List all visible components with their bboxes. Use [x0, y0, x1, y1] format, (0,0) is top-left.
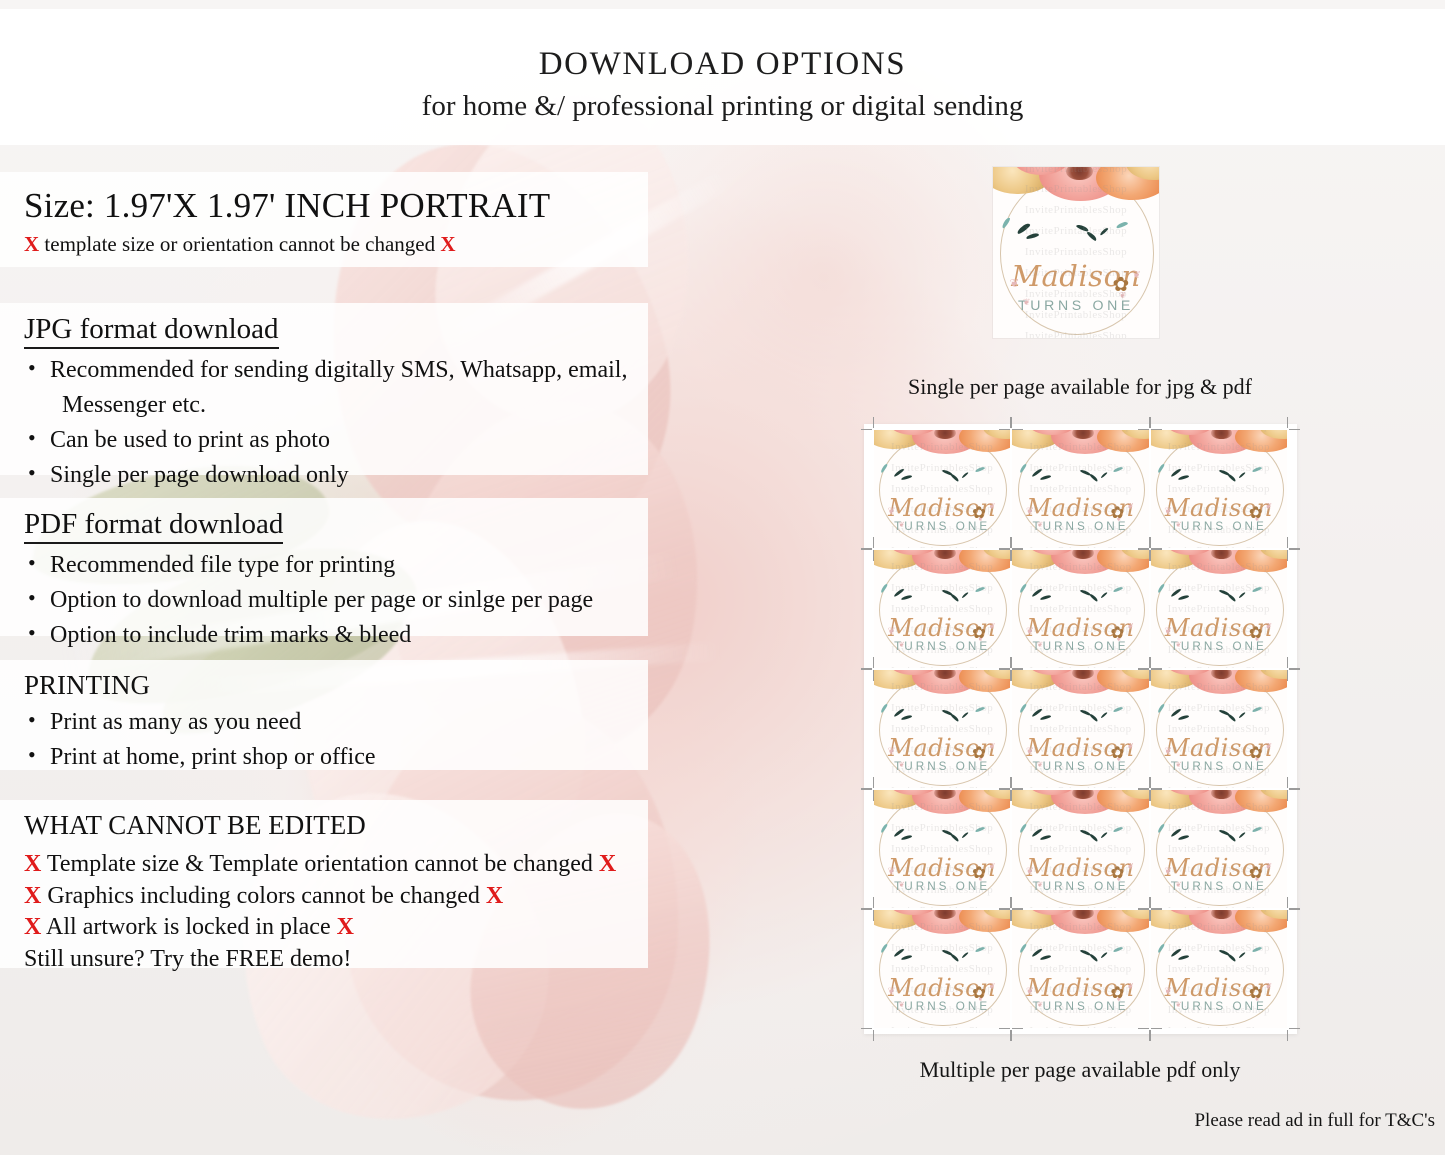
tag-grid-cell[interactable]: MadisonTURNS ONE❦❦❦❦✿InvitePrintablesSho… — [1151, 430, 1287, 548]
leaf-sprig — [1019, 584, 1027, 593]
leaf-sprig — [1157, 824, 1165, 833]
fairy-icon: ✿ — [1110, 623, 1124, 643]
trim-mark — [1289, 1028, 1300, 1029]
trim-mark — [861, 669, 872, 670]
fairy-icon: ✿ — [1110, 503, 1124, 523]
leaf-sprig — [1116, 221, 1128, 229]
trim-mark — [873, 417, 874, 428]
multi-preview-caption: Multiple per page available pdf only — [860, 1057, 1300, 1083]
floral-header — [1151, 430, 1287, 496]
trim-mark — [1287, 790, 1288, 801]
x-marker-icon: X — [24, 232, 39, 256]
trim-mark — [1150, 777, 1151, 788]
tag-subtitle: TURNS ONE — [1151, 760, 1287, 773]
tag-subtitle: TURNS ONE — [874, 520, 1010, 533]
leaf-sprig — [1100, 831, 1108, 838]
leaf-sprig — [901, 715, 912, 720]
printing-panel: PRINTING Print as many as you need Print… — [0, 660, 648, 770]
cannot-edit-line: X Template size & Template orientation c… — [24, 849, 648, 881]
floral-header — [1151, 550, 1287, 616]
butterfly-icon: ❦ — [1265, 621, 1272, 631]
butterfly-icon: ❦ — [989, 741, 996, 751]
butterfly-icon: ❦ — [1164, 626, 1172, 637]
list-item: Print as many as you need — [24, 707, 648, 738]
leaf-sprig — [1113, 467, 1123, 473]
fairy-icon: ✿ — [972, 623, 986, 643]
tag-artwork: MadisonTURNS ONE❦❦❦❦✿InvitePrintablesSho… — [1012, 550, 1148, 668]
tag-subtitle: TURNS ONE — [874, 640, 1010, 653]
butterfly-icon: ❦ — [1164, 506, 1172, 517]
butterfly-icon: ❦ — [1026, 506, 1034, 517]
trim-mark — [1138, 429, 1149, 430]
butterfly-icon: ❦ — [899, 520, 905, 529]
butterfly-icon: ❦ — [1127, 981, 1134, 991]
tag-grid-cell[interactable]: MadisonTURNS ONE❦❦❦❦✿InvitePrintablesSho… — [1012, 670, 1148, 788]
leaf-sprig — [1113, 587, 1123, 593]
fairy-icon: ✿ — [1249, 863, 1263, 883]
trim-mark — [1151, 1028, 1162, 1029]
tag-grid: MadisonTURNS ONE❦❦❦❦✿InvitePrintablesSho… — [874, 430, 1287, 1028]
butterfly-icon: ❦ — [1175, 880, 1181, 889]
leaf-sprig — [1019, 944, 1027, 953]
tag-subtitle: TURNS ONE — [1012, 640, 1148, 653]
cannot-edit-line-text: All artwork is locked in place — [46, 914, 331, 940]
butterfly-icon: ❦ — [888, 626, 896, 637]
butterfly-icon: ❦ — [1026, 746, 1034, 757]
trim-mark — [873, 777, 874, 788]
leaf-sprig — [1001, 217, 1011, 229]
trim-mark — [1011, 657, 1012, 668]
butterfly-icon: ❦ — [989, 621, 996, 631]
list-item: Can be used to print as photo — [24, 425, 648, 456]
leaf-sprig — [1251, 467, 1261, 473]
jpg-title-wrap: JPG format download — [24, 313, 648, 349]
size-note: X template size or orientation cannot be… — [24, 232, 648, 257]
pdf-title-wrap: PDF format download — [24, 508, 648, 544]
leaf-sprig — [975, 947, 985, 953]
leaf-sprig — [1227, 593, 1236, 602]
butterfly-icon: ❦ — [1127, 501, 1134, 511]
leaf-sprig — [1039, 475, 1050, 480]
tag-subtitle: TURNS ONE — [993, 297, 1159, 313]
trim-mark — [873, 657, 874, 668]
tag-grid-cell[interactable]: MadisonTURNS ONE❦❦❦❦✿InvitePrintablesSho… — [1151, 910, 1287, 1028]
fairy-icon: ✿ — [1249, 623, 1263, 643]
leaf-sprig — [1039, 835, 1050, 840]
x-marker-icon: X — [486, 883, 503, 909]
pdf-bullet-list: Recommended file type for printing Optio… — [24, 550, 648, 650]
leaf-sprig — [1089, 473, 1098, 482]
list-item: Recommended for sending digitally SMS, W… — [24, 355, 648, 386]
trim-mark — [1138, 549, 1149, 550]
leaf-sprig — [1227, 953, 1236, 962]
leaf-sprig — [1113, 827, 1123, 833]
tag-grid-cell[interactable]: MadisonTURNS ONE❦❦❦❦✿InvitePrintablesSho… — [874, 790, 1010, 908]
trim-mark — [1012, 1028, 1023, 1029]
butterfly-icon: ❦ — [989, 981, 996, 991]
tag-artwork: MadisonTURNS ONE❦❦❦❦✿InvitePrintablesSho… — [874, 910, 1010, 1028]
butterfly-icon: ❦ — [1037, 760, 1043, 769]
leaf-sprig — [1178, 595, 1189, 600]
butterfly-icon: ❦ — [899, 640, 905, 649]
x-marker-icon: X — [24, 914, 41, 940]
fairy-icon: ✿ — [1110, 983, 1124, 1003]
trim-mark — [1287, 777, 1288, 788]
trim-mark — [1289, 789, 1300, 790]
cannot-edit-line: X All artwork is locked in place X — [24, 912, 648, 944]
trim-mark — [1287, 897, 1288, 908]
floral-header — [1151, 790, 1287, 856]
trim-mark — [1289, 909, 1300, 910]
list-item: Option to include trim marks & bleed — [24, 620, 648, 651]
pdf-title: PDF format download — [24, 508, 283, 544]
trim-mark — [861, 789, 872, 790]
leaf-sprig — [1100, 591, 1108, 598]
tag-subtitle: TURNS ONE — [1012, 520, 1148, 533]
tag-artwork: MadisonTURNS ONE❦❦❦❦✿InvitePrintablesSho… — [1151, 910, 1287, 1028]
tag-artwork: MadisonTURNS ONE❦❦❦❦✿InvitePrintablesSho… — [1012, 910, 1148, 1028]
pdf-panel: PDF format download Recommended file typ… — [0, 498, 648, 636]
x-marker-icon: X — [599, 851, 616, 877]
jpg-title: JPG format download — [24, 313, 279, 349]
tag-subtitle: TURNS ONE — [1012, 760, 1148, 773]
leaf-sprig — [962, 591, 970, 598]
trim-mark — [873, 537, 874, 548]
cannot-edit-line: X Graphics including colors cannot be ch… — [24, 881, 648, 913]
floral-header — [874, 910, 1010, 976]
trim-mark — [999, 909, 1010, 910]
trim-mark — [1138, 1028, 1149, 1029]
butterfly-icon: ❦ — [1026, 626, 1034, 637]
fairy-icon: ✿ — [1113, 273, 1130, 297]
leaf-sprig — [1238, 831, 1246, 838]
leaf-sprig — [1019, 824, 1027, 833]
tag-subtitle: TURNS ONE — [1012, 880, 1148, 893]
leaf-sprig — [975, 707, 985, 713]
leaf-sprig — [951, 953, 960, 962]
trim-mark — [1150, 1030, 1151, 1041]
cannot-edit-title: WHAT CANNOT BE EDITED — [24, 810, 648, 841]
trim-mark — [1011, 1030, 1012, 1041]
tag-grid-cell[interactable]: MadisonTURNS ONE❦❦❦❦✿InvitePrintablesSho… — [1151, 550, 1287, 668]
leaf-sprig — [1251, 827, 1261, 833]
leaf-sprig — [1157, 704, 1165, 713]
leaf-sprig — [901, 475, 912, 480]
x-marker-icon: X — [24, 883, 41, 909]
trim-mark — [1287, 670, 1288, 681]
butterfly-icon: ❦ — [1010, 276, 1020, 290]
tag-artwork: MadisonTURNS ONE❦❦❦❦✿InvitePrintablesSho… — [1012, 670, 1148, 788]
leaf-sprig — [1099, 227, 1108, 236]
trim-mark — [873, 1030, 874, 1041]
leaf-sprig — [901, 835, 912, 840]
x-marker-icon: X — [440, 232, 455, 256]
fairy-icon: ✿ — [1249, 503, 1263, 523]
fairy-icon: ✿ — [1249, 983, 1263, 1003]
list-item: Option to download multiple per page or … — [24, 585, 648, 616]
tag-artwork: MadisonTURNS ONE❦❦❦❦✿InvitePrintablesSho… — [1151, 430, 1287, 548]
list-item: Recommended file type for printing — [24, 550, 648, 581]
cannot-edit-line-text: Template size & Template orientation can… — [47, 851, 593, 877]
tag-artwork: MadisonTURNS ONE❦❦❦❦✿InvitePrintablesSho… — [1151, 550, 1287, 668]
butterfly-icon: ❦ — [989, 861, 996, 871]
leaf-sprig — [1039, 715, 1050, 720]
trim-mark — [1287, 657, 1288, 668]
butterfly-icon: ❦ — [1023, 297, 1031, 308]
tag-artwork: MadisonTURNS ONE❦❦❦❦✿InvitePrintablesSho… — [1012, 430, 1148, 548]
butterfly-icon: ❦ — [1265, 501, 1272, 511]
leaf-sprig — [1227, 833, 1236, 842]
tag-grid-cell[interactable]: MadisonTURNS ONE❦❦❦❦✿InvitePrintablesSho… — [874, 430, 1010, 548]
butterfly-icon: ❦ — [1164, 866, 1172, 877]
page-title: DOWNLOAD OPTIONS — [0, 46, 1445, 83]
leaf-sprig — [962, 471, 970, 478]
butterfly-icon: ❦ — [1175, 640, 1181, 649]
trim-mark — [861, 549, 872, 550]
cannot-edit-closing: Still unsure? Try the FREE demo! — [24, 944, 648, 976]
single-preview-caption: Single per page available for jpg & pdf — [860, 374, 1300, 400]
butterfly-icon: ❦ — [1175, 520, 1181, 529]
leaf-sprig — [962, 711, 970, 718]
leaf-sprig — [880, 464, 888, 473]
leaf-sprig — [962, 831, 970, 838]
trim-mark — [1289, 549, 1300, 550]
tag-artwork: MadisonTURNS ONE❦❦❦❦✿InvitePrintablesSho… — [1151, 790, 1287, 908]
trim-mark — [999, 429, 1010, 430]
leaf-sprig — [1227, 473, 1236, 482]
leaf-sprig — [1100, 471, 1108, 478]
floral-header — [1012, 430, 1148, 496]
tag-artwork: MadisonTURNS ONE❦❦❦❦✿InvitePrintablesSho… — [874, 670, 1010, 788]
leaf-sprig — [1251, 587, 1261, 593]
trim-mark — [1289, 669, 1300, 670]
floral-header — [1151, 670, 1287, 736]
trim-mark — [1150, 897, 1151, 908]
leaf-sprig — [1178, 955, 1189, 960]
list-item: Messenger etc. — [24, 390, 648, 421]
floral-header — [993, 167, 1159, 263]
tag-grid-cell[interactable]: MadisonTURNS ONE❦❦❦❦✿InvitePrintablesSho… — [874, 910, 1010, 1028]
butterfly-icon: ❦ — [888, 866, 896, 877]
floral-header — [874, 790, 1010, 856]
trim-mark — [999, 549, 1010, 550]
trim-mark — [861, 429, 872, 430]
leaf-sprig — [880, 704, 888, 713]
butterfly-icon: ❦ — [1037, 520, 1043, 529]
butterfly-icon: ❦ — [1026, 866, 1034, 877]
leaf-sprig — [1100, 711, 1108, 718]
trim-mark — [1287, 417, 1288, 428]
trim-mark — [999, 1028, 1010, 1029]
trim-mark — [1287, 910, 1288, 921]
trim-mark — [1150, 657, 1151, 668]
trim-mark — [1011, 777, 1012, 788]
tag-artwork: MadisonTURNS ONE❦❦❦❦✿InvitePrintablesSho… — [874, 430, 1010, 548]
tag-grid-cell[interactable]: MadisonTURNS ONE❦❦❦❦✿InvitePrintablesSho… — [1012, 550, 1148, 668]
butterfly-icon: ❦ — [888, 986, 896, 997]
trim-mark — [1138, 909, 1149, 910]
tag-subtitle: TURNS ONE — [1151, 520, 1287, 533]
size-title: Size: 1.97'X 1.97' INCH PORTRAIT — [24, 186, 648, 226]
trim-mark — [1150, 537, 1151, 548]
tag-artwork: MadisonTURNS ONE❦❦❦❦✿InvitePrintablesSho… — [874, 790, 1010, 908]
fairy-icon: ✿ — [1249, 743, 1263, 763]
floral-header — [1151, 910, 1287, 976]
tag-subtitle: TURNS ONE — [1151, 880, 1287, 893]
leaf-sprig — [951, 473, 960, 482]
leaf-sprig — [975, 467, 985, 473]
butterfly-icon: ❦ — [899, 1000, 905, 1009]
x-marker-icon: X — [24, 851, 41, 877]
leaf-sprig — [1039, 955, 1050, 960]
single-tag-preview[interactable]: MadisonTURNS ONE❦❦❦❦✿InvitePrintablesSho… — [993, 167, 1159, 338]
butterfly-icon: ❦ — [1175, 1000, 1181, 1009]
leaf-sprig — [1178, 715, 1189, 720]
leaf-sprig — [975, 587, 985, 593]
x-marker-icon: X — [337, 914, 354, 940]
tag-artwork: MadisonTURNS ONE❦❦❦❦✿InvitePrintablesSho… — [874, 550, 1010, 668]
leaf-sprig — [1238, 471, 1246, 478]
leaf-sprig — [1089, 833, 1098, 842]
leaf-sprig — [901, 595, 912, 600]
fairy-icon: ✿ — [1110, 863, 1124, 883]
leaf-sprig — [951, 713, 960, 722]
leaf-sprig — [880, 584, 888, 593]
trim-mark — [1287, 550, 1288, 561]
fairy-icon: ✿ — [972, 983, 986, 1003]
leaf-sprig — [1089, 713, 1098, 722]
leaf-sprig — [1178, 475, 1189, 480]
tag-subtitle: TURNS ONE — [874, 1000, 1010, 1013]
floral-header — [1012, 670, 1148, 736]
leaf-sprig — [1100, 951, 1108, 958]
leaf-sprig — [1157, 584, 1165, 593]
trim-mark — [1138, 789, 1149, 790]
butterfly-icon: ❦ — [1037, 640, 1043, 649]
butterfly-icon: ❦ — [899, 760, 905, 769]
jpg-bullet-list: Recommended for sending digitally SMS, W… — [24, 355, 648, 490]
trim-mark — [1287, 1030, 1288, 1041]
trim-mark — [999, 669, 1010, 670]
butterfly-icon: ❦ — [899, 880, 905, 889]
leaf-sprig — [1026, 232, 1040, 239]
tag-subtitle: TURNS ONE — [874, 760, 1010, 773]
tag-artwork: MadisonTURNS ONE❦❦❦❦✿InvitePrintablesSho… — [1151, 670, 1287, 788]
floral-header — [874, 430, 1010, 496]
tag-grid-cell[interactable]: MadisonTURNS ONE❦❦❦❦✿InvitePrintablesSho… — [1012, 910, 1148, 1028]
butterfly-icon: ❦ — [1132, 270, 1140, 281]
floral-header — [874, 550, 1010, 616]
tag-subtitle: TURNS ONE — [1151, 1000, 1287, 1013]
butterfly-icon: ❦ — [888, 746, 896, 757]
leaf-sprig — [1016, 223, 1031, 235]
printing-bullet-list: Print as many as you need Print at home,… — [24, 707, 648, 772]
list-item: Single per page download only — [24, 460, 648, 491]
butterfly-icon: ❦ — [989, 501, 996, 511]
printing-title: PRINTING — [24, 670, 648, 701]
butterfly-icon: ❦ — [1127, 861, 1134, 871]
trim-mark — [1138, 669, 1149, 670]
leaf-sprig — [901, 955, 912, 960]
tag-grid-cell[interactable]: MadisonTURNS ONE❦❦❦❦✿InvitePrintablesSho… — [1151, 790, 1287, 908]
floral-header — [1012, 550, 1148, 616]
terms-note: Please read ad in full for T&C's — [1045, 1110, 1445, 1132]
leaf-sprig — [951, 833, 960, 842]
tag-grid-cell[interactable]: MadisonTURNS ONE❦❦❦❦✿InvitePrintablesSho… — [1151, 670, 1287, 788]
butterfly-icon: ❦ — [1037, 880, 1043, 889]
trim-mark — [1287, 537, 1288, 548]
leaf-sprig — [1238, 951, 1246, 958]
trim-mark — [999, 789, 1010, 790]
fairy-icon: ✿ — [972, 743, 986, 763]
leaf-sprig — [1157, 944, 1165, 953]
butterfly-icon: ❦ — [1127, 741, 1134, 751]
butterfly-icon: ❦ — [1175, 760, 1181, 769]
leaf-sprig — [962, 951, 970, 958]
tag-grid-cell[interactable]: MadisonTURNS ONE❦❦❦❦✿InvitePrintablesSho… — [874, 670, 1010, 788]
tag-subtitle: TURNS ONE — [874, 880, 1010, 893]
trim-mark — [1011, 417, 1012, 428]
multi-tag-sheet[interactable]: MadisonTURNS ONE❦❦❦❦✿InvitePrintablesSho… — [864, 424, 1297, 1034]
trim-mark — [1011, 537, 1012, 548]
trim-mark — [873, 897, 874, 908]
floral-header — [1012, 910, 1148, 976]
size-note-text: template size or orientation cannot be c… — [44, 232, 435, 256]
leaf-sprig — [1238, 711, 1246, 718]
trim-mark — [1150, 417, 1151, 428]
leaf-sprig — [880, 824, 888, 833]
download-options-page: DOWNLOAD OPTIONS for home &/ professiona… — [0, 0, 1445, 1155]
floral-header — [874, 670, 1010, 736]
trim-mark — [861, 909, 872, 910]
leaf-sprig — [1113, 707, 1123, 713]
leaf-sprig — [1019, 464, 1027, 473]
leaf-sprig — [975, 827, 985, 833]
floral-header — [1012, 790, 1148, 856]
tag-subtitle: TURNS ONE — [1012, 1000, 1148, 1013]
butterfly-icon: ❦ — [1265, 741, 1272, 751]
trim-mark — [1011, 897, 1012, 908]
leaf-sprig — [1089, 953, 1098, 962]
butterfly-icon: ❦ — [1265, 981, 1272, 991]
tag-artwork: MadisonTURNS ONE❦❦❦❦✿InvitePrintablesSho… — [1012, 790, 1148, 908]
butterfly-icon: ❦ — [1164, 746, 1172, 757]
leaf-sprig — [951, 593, 960, 602]
leaf-sprig — [880, 944, 888, 953]
leaf-sprig — [1157, 464, 1165, 473]
butterfly-icon: ❦ — [1037, 1000, 1043, 1009]
butterfly-icon: ❦ — [1164, 986, 1172, 997]
leaf-sprig — [1238, 591, 1246, 598]
cannot-edit-line-text: Graphics including colors cannot be chan… — [47, 883, 480, 909]
tag-grid-cell[interactable]: MadisonTURNS ONE❦❦❦❦✿InvitePrintablesSho… — [1012, 430, 1148, 548]
leaf-sprig — [1089, 593, 1098, 602]
trim-mark — [861, 1028, 872, 1029]
size-panel: Size: 1.97'X 1.97' INCH PORTRAIT X templ… — [0, 172, 648, 267]
tag-grid-cell[interactable]: MadisonTURNS ONE❦❦❦❦✿InvitePrintablesSho… — [874, 550, 1010, 668]
tag-artwork: MadisonTURNS ONE❦❦❦❦✿InvitePrintablesSho… — [993, 167, 1159, 338]
leaf-sprig — [1178, 835, 1189, 840]
butterfly-icon: ❦ — [1026, 986, 1034, 997]
butterfly-icon: ❦ — [1265, 861, 1272, 871]
fairy-icon: ✿ — [1110, 743, 1124, 763]
tag-grid-cell[interactable]: MadisonTURNS ONE❦❦❦❦✿InvitePrintablesSho… — [1012, 790, 1148, 908]
list-item: Print at home, print shop or office — [24, 742, 648, 773]
leaf-sprig — [1251, 947, 1261, 953]
fairy-icon: ✿ — [972, 863, 986, 883]
leaf-sprig — [1019, 704, 1027, 713]
leaf-sprig — [1086, 230, 1097, 241]
